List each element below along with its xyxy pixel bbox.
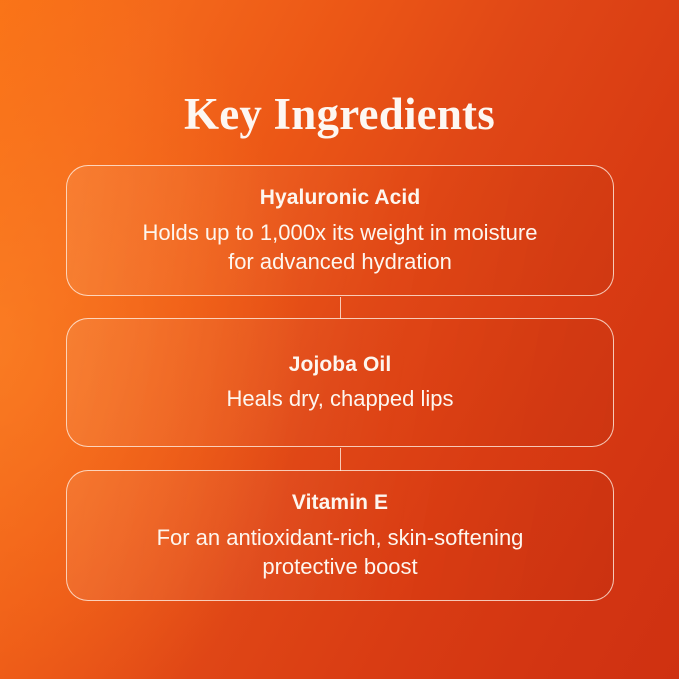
ingredient-name: Jojoba Oil (289, 352, 392, 378)
ingredient-description: For an antioxidant-rich, skin-softening … (102, 523, 578, 581)
ingredient-card: Jojoba Oil Heals dry, chapped lips (66, 318, 614, 447)
key-ingredients-infographic: Key Ingredients Hyaluronic Acid Holds up… (0, 0, 679, 679)
ingredient-name: Vitamin E (292, 490, 388, 516)
ingredient-description: Heals dry, chapped lips (198, 384, 481, 413)
ingredient-card-list: Hyaluronic Acid Holds up to 1,000x its w… (66, 165, 614, 601)
ingredient-description: Holds up to 1,000x its weight in moistur… (102, 218, 578, 276)
ingredient-card: Hyaluronic Acid Holds up to 1,000x its w… (66, 165, 614, 296)
ingredient-card: Vitamin E For an antioxidant-rich, skin-… (66, 470, 614, 601)
page-title: Key Ingredients (0, 90, 679, 140)
ingredient-name: Hyaluronic Acid (260, 185, 421, 211)
